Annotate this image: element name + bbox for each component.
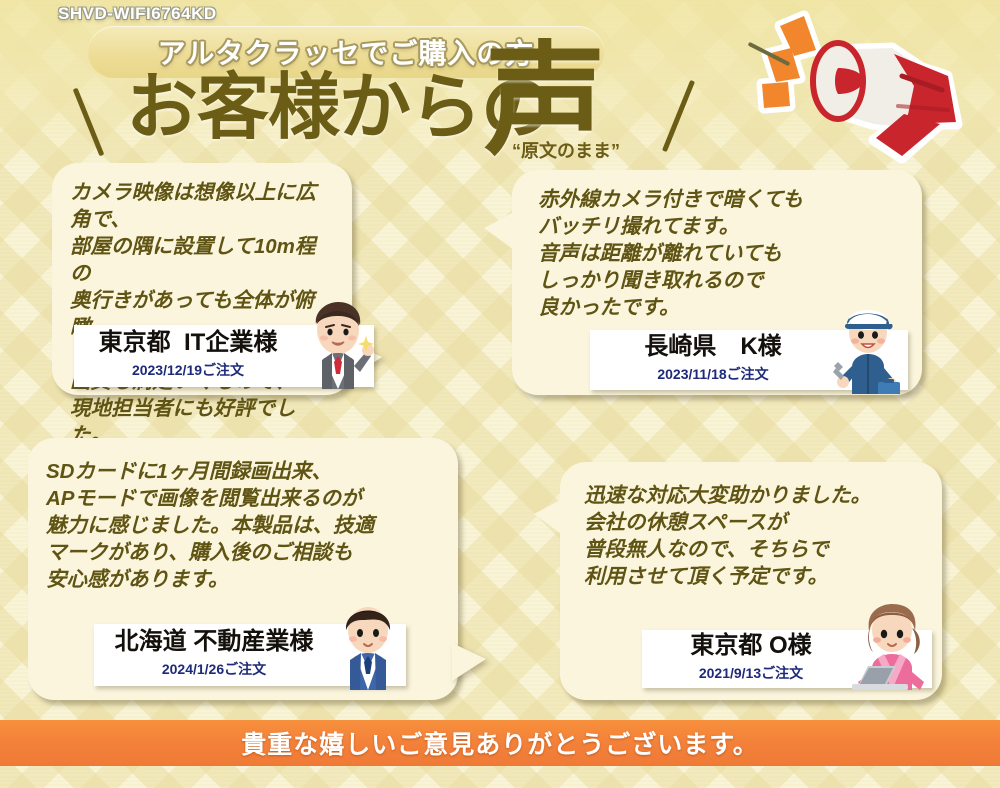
- footer-message: 貴重な嬉しいご意見ありがとうございます。: [241, 725, 759, 761]
- testimonial-card-3: SDカードに1ヶ月間録画出来、 APモードで画像を閲覧出来るのが 魅力に感じまし…: [28, 438, 458, 700]
- nameplate-3: 北海道 不動産業様 2024/1/26ご注文: [94, 624, 406, 686]
- order-date-1: 2023/12/19ご注文: [76, 360, 300, 380]
- customer-name-2: 長崎県 K様: [592, 334, 834, 360]
- decor-slash-left: [73, 88, 105, 157]
- businessman-avatar: [302, 325, 374, 387]
- header: アルタクラッセでご購入の方 SHVD-WIFI6764KD お客様からの 声 “…: [0, 0, 1000, 170]
- testimonial-card-1: カメラ映像は想像以上に広角で、 部屋の隅に設置して10m程の 奥行きがあっても全…: [52, 163, 352, 395]
- customer-name-4: 東京都 O様: [644, 633, 858, 659]
- order-date-4: 2021/9/13ご注文: [644, 663, 858, 683]
- worker-avatar: [836, 330, 908, 390]
- testimonial-body-4: 迅速な対応大変助かりました。 会社の休憩スペースが 普段無人なので、そちらで 利…: [584, 482, 924, 590]
- testimonial-card-4: 迅速な対応大変助かりました。 会社の休憩スペースが 普段無人なので、そちらで 利…: [560, 462, 942, 700]
- decor-slash-right: [662, 80, 695, 152]
- verbatim-note: “原文のまま”: [512, 137, 620, 163]
- nameplate-1: 東京都 IT企業様 2023/12/19ご注文: [74, 325, 374, 387]
- nameplate-4: 東京都 O様 2021/9/13ご注文: [642, 630, 932, 688]
- bubble-tail-2: [484, 212, 514, 250]
- order-date-2: 2023/11/18ご注文: [592, 364, 834, 384]
- model-code-label: SHVD-WIFI6764KD: [58, 4, 217, 24]
- order-date-3: 2024/1/26ご注文: [96, 659, 332, 679]
- testimonial-card-2: 赤外線カメラ付きで暗くても バッチリ撮れてます。 音声は距離が離れていても しっ…: [512, 170, 922, 395]
- testimonial-body-3: SDカードに1ヶ月間録画出来、 APモードで画像を閲覧出来るのが 魅力に感じまし…: [46, 458, 440, 593]
- customer-name-1: 東京都 IT企業様: [76, 330, 300, 356]
- footer-banner: 貴重な嬉しいご意見ありがとうございます。: [0, 720, 1000, 766]
- customer-name-3: 北海道 不動産業様: [96, 629, 332, 655]
- testimonial-body-1: カメラ映像は想像以上に広角で、 部屋の隅に設置して10m程の 奥行きがあっても全…: [70, 179, 334, 449]
- woman-laptop-avatar: [860, 630, 932, 688]
- megaphone-svg: [742, 6, 992, 166]
- megaphone-icon: [742, 6, 992, 166]
- nameplate-2: 長崎県 K様 2023/11/18ご注文: [590, 330, 908, 390]
- student-avatar: [334, 624, 406, 686]
